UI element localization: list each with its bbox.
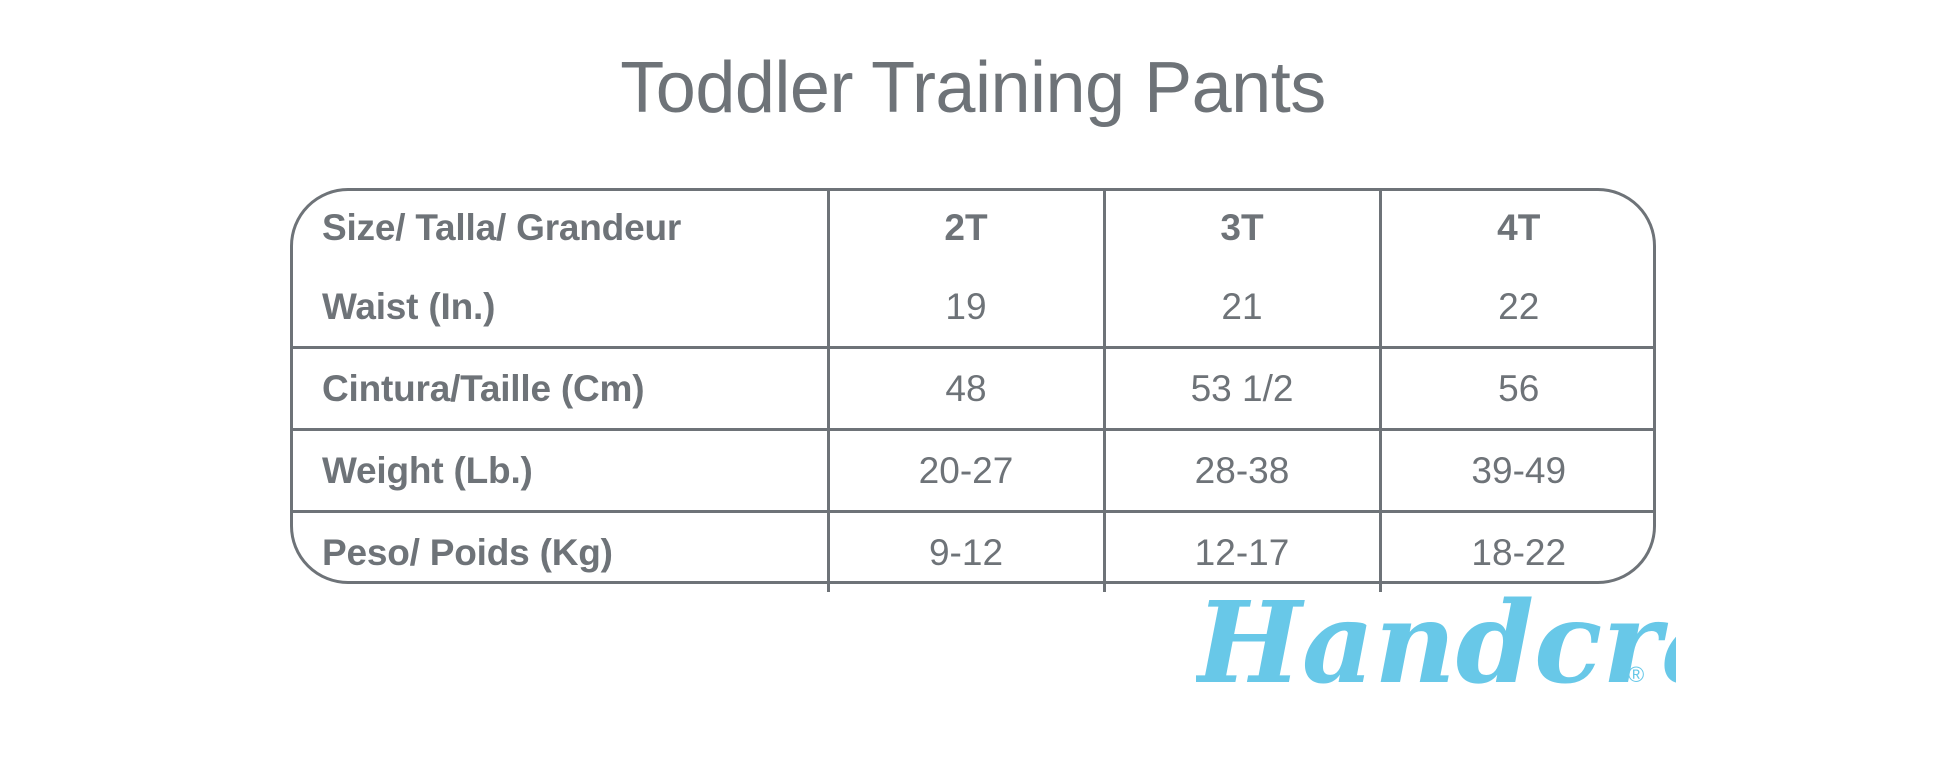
cell-peso-kg-3t: 12-17: [1104, 512, 1380, 593]
handcraft-logo-icon: Handcraft ®: [1196, 582, 1676, 712]
cell-weight-lb-2t: 20-27: [828, 430, 1104, 512]
cell-weight-lb-4t: 39-49: [1380, 430, 1656, 512]
handcraft-wordmark-text: Handcraft: [1196, 582, 1676, 709]
row-label-cintura-taille-cm: Cintura/Taille (Cm): [290, 348, 828, 430]
cell-cintura-cm-3t: 53 1/2: [1104, 348, 1380, 430]
table-row: Cintura/Taille (Cm) 48 53 1/2 56: [290, 348, 1656, 430]
cell-cintura-cm-4t: 56: [1380, 348, 1656, 430]
page-title: Toddler Training Pants: [0, 52, 1946, 124]
cell-peso-kg-2t: 9-12: [828, 512, 1104, 593]
handcraft-logo: Handcraft ®: [1196, 582, 1676, 712]
row-label-waist-in: Waist (In.): [290, 267, 828, 348]
cell-waist-in-3t: 21: [1104, 267, 1380, 348]
column-header-4t: 4T: [1380, 188, 1656, 267]
row-label-weight-lb: Weight (Lb.): [290, 430, 828, 512]
cell-peso-kg-4t: 18-22: [1380, 512, 1656, 593]
cell-waist-in-4t: 22: [1380, 267, 1656, 348]
column-header-size-label: Size/ Talla/ Grandeur: [290, 188, 828, 267]
size-chart-table-container: Size/ Talla/ Grandeur 2T 3T 4T Waist (In…: [290, 188, 1656, 584]
size-chart-page: Toddler Training Pants Size/ Talla/ Gran…: [0, 0, 1946, 782]
table-row: Waist (In.) 19 21 22: [290, 267, 1656, 348]
table-body: Waist (In.) 19 21 22 Cintura/Taille (Cm)…: [290, 267, 1656, 592]
table-header: Size/ Talla/ Grandeur 2T 3T 4T: [290, 188, 1656, 267]
table-row: Peso/ Poids (Kg) 9-12 12-17 18-22: [290, 512, 1656, 593]
cell-waist-in-2t: 19: [828, 267, 1104, 348]
row-label-peso-poids-kg: Peso/ Poids (Kg): [290, 512, 828, 593]
table-header-row: Size/ Talla/ Grandeur 2T 3T 4T: [290, 188, 1656, 267]
registered-trademark-icon: ®: [1628, 662, 1644, 687]
column-header-2t: 2T: [828, 188, 1104, 267]
column-header-3t: 3T: [1104, 188, 1380, 267]
table-row: Weight (Lb.) 20-27 28-38 39-49: [290, 430, 1656, 512]
cell-cintura-cm-2t: 48: [828, 348, 1104, 430]
size-chart-table: Size/ Talla/ Grandeur 2T 3T 4T Waist (In…: [290, 188, 1656, 592]
cell-weight-lb-3t: 28-38: [1104, 430, 1380, 512]
